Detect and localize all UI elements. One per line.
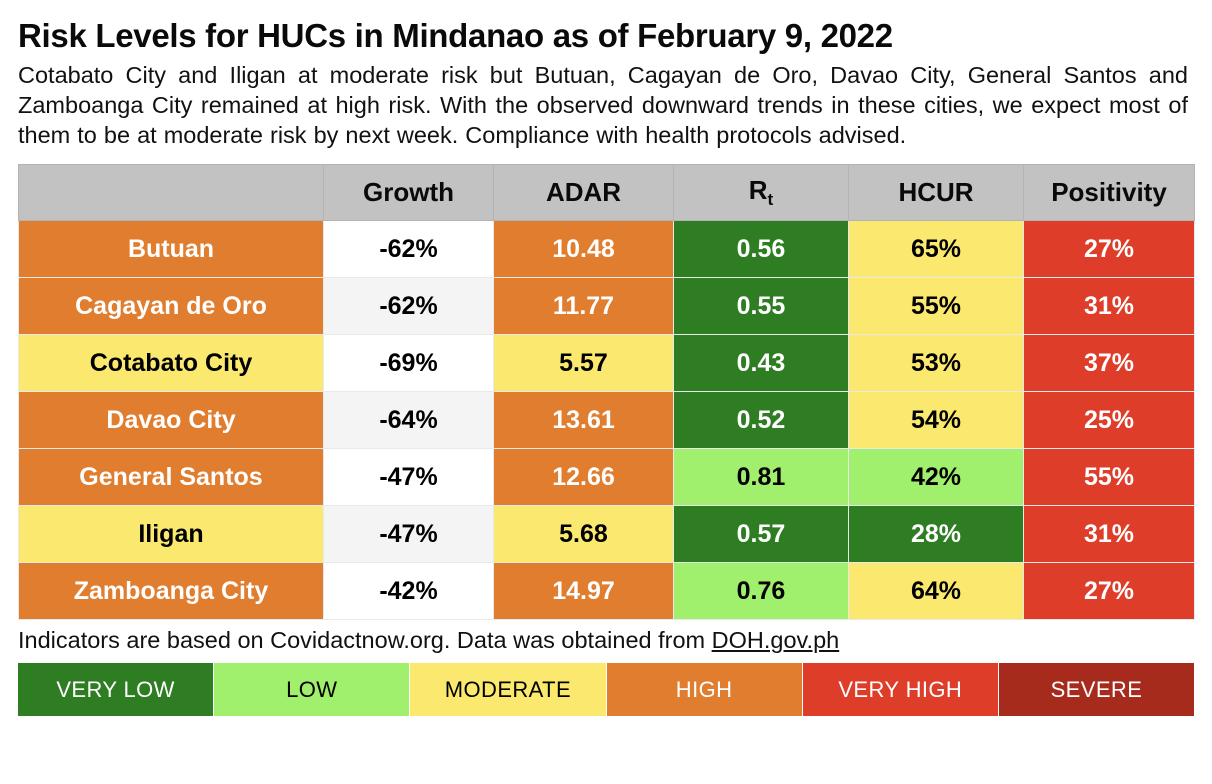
hcur-value: 65% [849, 221, 1024, 278]
table-row: Davao City-64%13.610.5254%25% [19, 392, 1195, 449]
hcur-value: 54% [849, 392, 1024, 449]
city-name: General Santos [19, 449, 324, 506]
growth-value: -69% [324, 335, 494, 392]
city-name: Cagayan de Oro [19, 278, 324, 335]
risk-table: Growth ADAR Rt HCUR Positivity Butuan-62… [18, 164, 1195, 620]
positivity-value: 31% [1024, 506, 1195, 563]
rt-value: 0.81 [674, 449, 849, 506]
hcur-value: 55% [849, 278, 1024, 335]
column-header-positivity: Positivity [1024, 165, 1195, 221]
column-header-rt-base: R [749, 175, 768, 205]
city-name: Butuan [19, 221, 324, 278]
rt-value: 0.56 [674, 221, 849, 278]
table-row: General Santos-47%12.660.8142%55% [19, 449, 1195, 506]
city-name: Cotabato City [19, 335, 324, 392]
table-header: Growth ADAR Rt HCUR Positivity [19, 165, 1195, 221]
city-name: Zamboanga City [19, 563, 324, 620]
positivity-value: 31% [1024, 278, 1195, 335]
adar-value: 5.68 [494, 506, 674, 563]
growth-value: -62% [324, 221, 494, 278]
hcur-value: 42% [849, 449, 1024, 506]
source-note: Indicators are based on Covidactnow.org.… [18, 620, 1194, 654]
rt-value: 0.55 [674, 278, 849, 335]
hcur-value: 64% [849, 563, 1024, 620]
column-header-rt-subscript: t [768, 191, 774, 210]
growth-value: -64% [324, 392, 494, 449]
legend-item-veryhigh: VERY HIGH [803, 663, 999, 716]
source-note-text: Indicators are based on Covidactnow.org.… [18, 627, 712, 653]
growth-value: -47% [324, 449, 494, 506]
hcur-value: 53% [849, 335, 1024, 392]
adar-value: 11.77 [494, 278, 674, 335]
adar-value: 12.66 [494, 449, 674, 506]
legend-item-low: LOW [214, 663, 410, 716]
infographic-page: Risk Levels for HUCs in Mindanao as of F… [0, 0, 1212, 784]
column-header-city [19, 165, 324, 221]
table-row: Zamboanga City-42%14.970.7664%27% [19, 563, 1195, 620]
table-row: Cagayan de Oro-62%11.770.5555%31% [19, 278, 1195, 335]
column-header-growth: Growth [324, 165, 494, 221]
page-title: Risk Levels for HUCs in Mindanao as of F… [18, 0, 1194, 55]
positivity-value: 37% [1024, 335, 1195, 392]
adar-value: 14.97 [494, 563, 674, 620]
growth-value: -62% [324, 278, 494, 335]
table-row: Cotabato City-69%5.570.4353%37% [19, 335, 1195, 392]
table-row: Iligan-47%5.680.5728%31% [19, 506, 1195, 563]
column-header-hcur: HCUR [849, 165, 1024, 221]
legend-item-severe: SEVERE [999, 663, 1194, 716]
legend-item-verylow: VERY LOW [18, 663, 214, 716]
growth-value: -42% [324, 563, 494, 620]
city-name: Davao City [19, 392, 324, 449]
adar-value: 10.48 [494, 221, 674, 278]
table-body: Butuan-62%10.480.5665%27%Cagayan de Oro-… [19, 221, 1195, 620]
rt-value: 0.57 [674, 506, 849, 563]
legend-item-moderate: MODERATE [410, 663, 606, 716]
positivity-value: 27% [1024, 563, 1195, 620]
risk-legend: VERY LOWLOWMODERATEHIGHVERY HIGHSEVERE [18, 663, 1194, 716]
positivity-value: 55% [1024, 449, 1195, 506]
column-header-rt: Rt [674, 165, 849, 221]
rt-value: 0.43 [674, 335, 849, 392]
positivity-value: 25% [1024, 392, 1195, 449]
table-row: Butuan-62%10.480.5665%27% [19, 221, 1195, 278]
page-subtitle: Cotabato City and Iligan at moderate ris… [18, 55, 1194, 151]
rt-value: 0.76 [674, 563, 849, 620]
table-header-row: Growth ADAR Rt HCUR Positivity [19, 165, 1195, 221]
growth-value: -47% [324, 506, 494, 563]
city-name: Iligan [19, 506, 324, 563]
legend-item-high: HIGH [607, 663, 803, 716]
hcur-value: 28% [849, 506, 1024, 563]
adar-value: 13.61 [494, 392, 674, 449]
positivity-value: 27% [1024, 221, 1195, 278]
doh-link[interactable]: DOH.gov.ph [712, 627, 840, 653]
rt-value: 0.52 [674, 392, 849, 449]
adar-value: 5.57 [494, 335, 674, 392]
column-header-adar: ADAR [494, 165, 674, 221]
